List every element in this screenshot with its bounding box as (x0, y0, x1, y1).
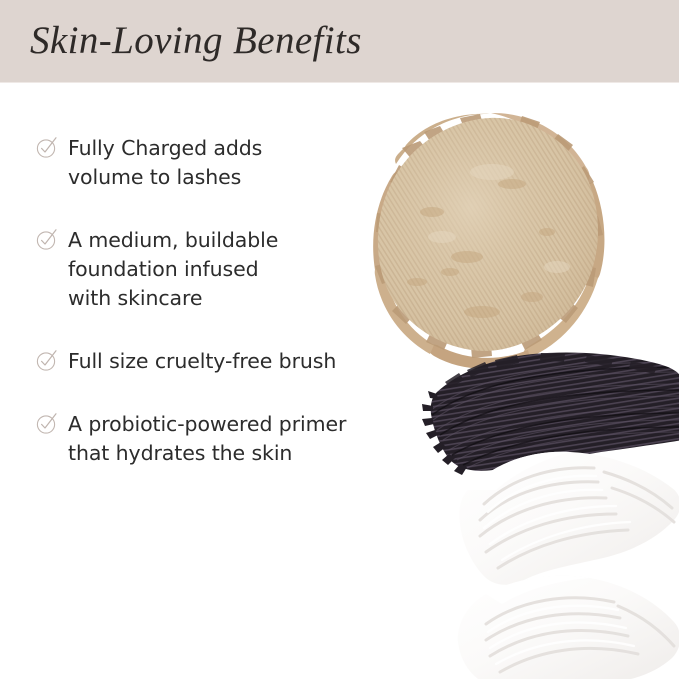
check-circle-icon (36, 229, 58, 251)
page-title: Skin-Loving Benefits (30, 16, 362, 65)
benefits-list: Fully Charged adds volume to lashes A me… (36, 134, 436, 468)
list-item: Full size cruelty-free brush (36, 347, 436, 376)
list-item-label: Full size cruelty-free brush (68, 347, 436, 376)
check-circle-icon (36, 413, 58, 435)
list-item: A medium, buildable foundation infused w… (36, 226, 436, 313)
benefits-infographic: Skin-Loving Benefits (0, 0, 679, 679)
check-circle-icon (36, 350, 58, 372)
list-item: A probiotic-powered primer that hydrates… (36, 410, 436, 468)
check-circle-icon (36, 137, 58, 159)
list-item-label: A medium, buildable foundation infused w… (68, 226, 436, 313)
header-band: Skin-Loving Benefits (0, 0, 679, 83)
list-item-label: Fully Charged adds volume to lashes (68, 134, 436, 192)
cream-primer-swatch (428, 428, 679, 679)
list-item: Fully Charged adds volume to lashes (36, 134, 436, 192)
mascara-brush-stroke-swatch (415, 348, 679, 480)
list-item-label: A probiotic-powered primer that hydrates… (68, 410, 436, 468)
